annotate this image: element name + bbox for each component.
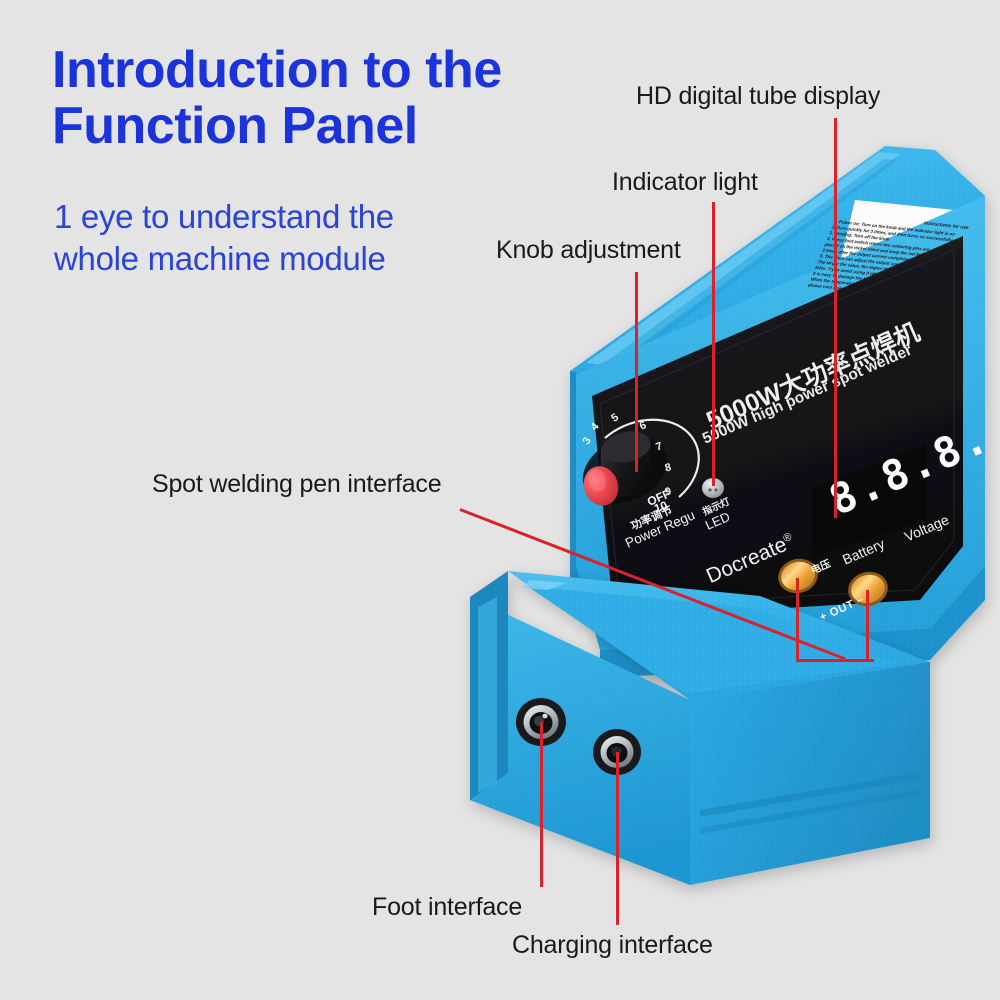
leader-pen-bracket <box>796 659 874 662</box>
callout-indicator: Indicator light <box>612 168 758 197</box>
callout-charging: Charging interface <box>512 931 713 960</box>
leader-charging <box>616 752 619 925</box>
callout-hd-display: HD digital tube display <box>636 82 880 111</box>
knob-tick-10: 10 <box>652 498 669 515</box>
knob-tick-8: 8 <box>664 461 673 474</box>
knob-tick-5: 5 <box>609 411 621 424</box>
knob-tick-3: 3 <box>580 435 593 447</box>
callout-knob: Knob adjustment <box>496 236 681 265</box>
leader-hd-display <box>834 118 837 518</box>
page-title: Introduction to the Function Panel <box>52 42 502 154</box>
knob-tick-7: 7 <box>654 440 664 453</box>
leader-pen-stem-right <box>866 590 869 661</box>
knob-tick-4: 4 <box>589 421 602 434</box>
callout-pen-interface: Spot welding pen interface <box>152 470 441 499</box>
leader-foot <box>540 722 543 887</box>
knob-tick-9: 9 <box>664 485 673 498</box>
page-subtitle: 1 eye to understand the whole machine mo… <box>54 196 394 279</box>
callout-foot: Foot interface <box>372 893 522 922</box>
leader-indicator <box>712 202 715 486</box>
leader-pen-stem-left <box>796 578 799 661</box>
knob-tick-6: 6 <box>638 419 648 432</box>
leader-knob <box>635 272 638 472</box>
infographic-canvas: 5000W大功率点焊机 5000W high power spot welder… <box>0 0 1000 1000</box>
